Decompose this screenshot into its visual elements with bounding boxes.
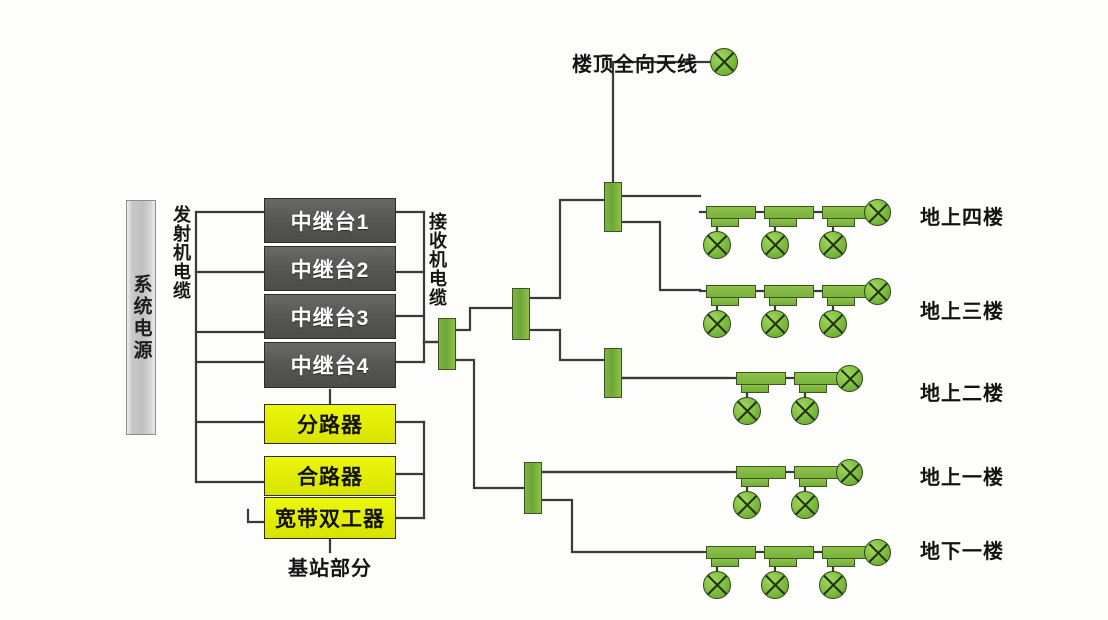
- antenna-icon[interactable]: [791, 397, 819, 425]
- coupler-tap: [769, 558, 797, 567]
- coupler-icon[interactable]: [706, 546, 756, 567]
- antenna-icon[interactable]: [703, 310, 731, 338]
- floor-label-3f-wrap: 地上三楼: [920, 295, 1004, 324]
- combiner-device-label: 合路器: [297, 461, 363, 491]
- splitter-device[interactable]: 分路器: [264, 404, 396, 444]
- coupler-tap: [827, 297, 855, 306]
- system-power-supply[interactable]: 系统电源: [126, 200, 156, 435]
- floor-label-1f: 地上一楼: [920, 467, 1004, 489]
- base-station-caption-wrap: 基站部分: [264, 552, 396, 581]
- coupler-tap: [711, 297, 739, 306]
- floor-label-4f: 地上四楼: [920, 207, 1004, 229]
- repeater-1-label: 中继台1: [291, 206, 370, 236]
- coupler-tap: [741, 384, 769, 393]
- coupler-tap: [799, 478, 827, 487]
- antenna-icon[interactable]: [864, 278, 891, 305]
- transmitter-cable-label: 发射机电缆: [172, 205, 190, 300]
- splitter-floor43[interactable]: [604, 182, 622, 232]
- repeater-1[interactable]: 中继台1: [264, 198, 396, 243]
- combiner-device[interactable]: 合路器: [264, 456, 396, 496]
- coupler-icon[interactable]: [706, 285, 756, 306]
- receiver-cable-label-wrap: 接收机电缆: [428, 212, 446, 312]
- repeater-2[interactable]: 中继台2: [264, 246, 396, 291]
- das-diagram-canvas: 系统电源 发射机电缆 接收机电缆 中继台1 中继台2 中继台3 中继台4 分路器…: [0, 0, 1108, 620]
- antenna-icon[interactable]: [791, 491, 819, 519]
- splitter-upper[interactable]: [512, 288, 530, 340]
- antenna-icon[interactable]: [836, 459, 863, 486]
- repeater-4[interactable]: 中继台4: [264, 342, 396, 388]
- coupler-icon[interactable]: [764, 546, 814, 567]
- transmitter-cable-label-wrap: 发射机电缆: [172, 205, 190, 305]
- antenna-icon[interactable]: [761, 310, 789, 338]
- splitter-lower[interactable]: [524, 462, 542, 514]
- main-splitter[interactable]: [438, 318, 456, 370]
- antenna-icon[interactable]: [864, 199, 891, 226]
- antenna-icon[interactable]: [836, 365, 863, 392]
- antenna-icon[interactable]: [761, 571, 789, 599]
- rooftop-antenna-label-wrap: 楼顶全向天线: [572, 48, 698, 77]
- floor-label-3f: 地上三楼: [920, 301, 1004, 323]
- coupler-tap: [827, 218, 855, 227]
- antenna-icon[interactable]: [864, 539, 891, 566]
- base-station-caption: 基站部分: [288, 558, 372, 580]
- coupler-icon[interactable]: [764, 285, 814, 306]
- rooftop-antenna-label: 楼顶全向天线: [572, 54, 698, 76]
- antenna-icon[interactable]: [703, 571, 731, 599]
- repeater-3[interactable]: 中继台3: [264, 294, 396, 339]
- splitter-device-label: 分路器: [297, 409, 363, 439]
- broadband-diplexer-device[interactable]: 宽带双工器: [264, 497, 396, 539]
- repeater-3-label: 中继台3: [291, 302, 370, 332]
- repeater-2-label: 中继台2: [291, 254, 370, 284]
- coupler-icon[interactable]: [736, 466, 786, 487]
- antenna-icon[interactable]: [819, 571, 847, 599]
- antenna-icon[interactable]: [710, 48, 738, 76]
- antenna-icon[interactable]: [819, 231, 847, 259]
- coupler-tap: [741, 478, 769, 487]
- coupler-icon[interactable]: [736, 372, 786, 393]
- antenna-icon[interactable]: [703, 231, 731, 259]
- coupler-tap: [827, 558, 855, 567]
- antenna-icon[interactable]: [761, 231, 789, 259]
- coupler-icon[interactable]: [764, 206, 814, 227]
- broadband-diplexer-label: 宽带双工器: [275, 503, 385, 533]
- floor-label-1f-wrap: 地上一楼: [920, 461, 1004, 490]
- coupler-icon[interactable]: [706, 206, 756, 227]
- floor-label-b1: 地下一楼: [920, 541, 1004, 563]
- coupler-tap: [711, 558, 739, 567]
- floor-label-2f: 地上二楼: [920, 383, 1004, 405]
- antenna-icon[interactable]: [819, 310, 847, 338]
- coupler-tap: [769, 297, 797, 306]
- repeater-4-label: 中继台4: [291, 350, 370, 380]
- coupler-tap: [769, 218, 797, 227]
- splitter-floor2[interactable]: [604, 348, 622, 398]
- coupler-tap: [711, 218, 739, 227]
- floor-label-4f-wrap: 地上四楼: [920, 201, 1004, 230]
- floor-label-b1-wrap: 地下一楼: [920, 535, 1004, 564]
- coupler-tap: [799, 384, 827, 393]
- system-power-label: 系统电源: [132, 274, 151, 362]
- antenna-icon[interactable]: [733, 397, 761, 425]
- receiver-cable-label: 接收机电缆: [428, 212, 446, 307]
- floor-label-2f-wrap: 地上二楼: [920, 377, 1004, 406]
- antenna-icon[interactable]: [733, 491, 761, 519]
